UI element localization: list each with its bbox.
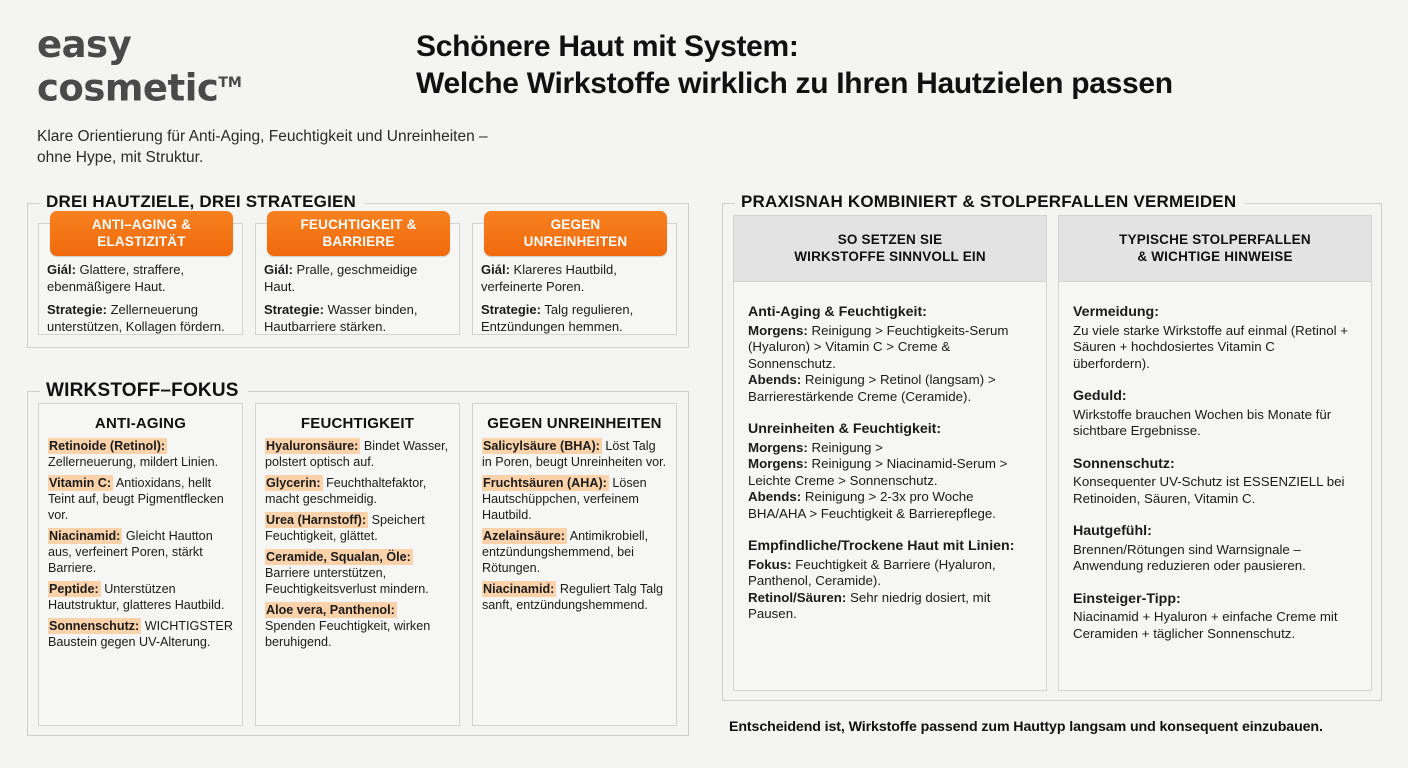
praxis-block-line: Wirkstoffe brauchen Wochen bis Monate fü…	[1073, 407, 1357, 440]
goal-line: Giál: Pralle, geschmeidige Haut.	[264, 262, 451, 295]
list-item: Salicylsäure (BHA): Löst Talg in Poren, …	[482, 438, 667, 470]
list-item: Ceramide, Squalan, Öle: Barriere unterst…	[265, 549, 450, 597]
brand-logo-line2-text: cosmetic	[37, 66, 218, 109]
list-item: Sonnenschutz: WICHTIGSTER Baustein gegen…	[48, 618, 233, 650]
ingredient-term: Sonnenschutz:	[48, 618, 141, 634]
list-item: Fruchtsäuren (AHA): Lösen Hautschüppchen…	[482, 475, 667, 523]
list-item: Azelainsäure: Antimikrobiell, entzündung…	[482, 528, 667, 576]
praxis-card-anwendung: SO SETZEN SIE WIRKSTOFFE SINNVOLL EIN An…	[733, 215, 1047, 691]
footer-note: Entscheidend ist, Wirkstoffe passend zum…	[729, 719, 1389, 735]
status-badge: FEUCHTIGKEIT & BARRIERE	[267, 211, 450, 256]
section-legend-wirkstoff-fokus: WIRKSTOFF–FOKUS	[40, 380, 248, 402]
section-legend-hautziele: DREI HAUTZIELE, DREI STRATEGIEN	[40, 192, 365, 212]
praxis-card-row: SO SETZEN SIE WIRKSTOFFE SINNVOLL EIN An…	[733, 215, 1372, 691]
goal-card: GEGEN UNREINHEITEN Giál: Klareres Hautbi…	[472, 223, 677, 335]
goal-card-body: Giál: Glattere, straffere, ebenmäßigere …	[47, 262, 234, 335]
ingredient-term: Niacinamid:	[482, 581, 556, 597]
trademark-icon: TM	[218, 75, 241, 91]
ingredient-desc: Spenden Feuchtigkeit, wirken beruhigend.	[265, 619, 430, 649]
list-item: Retinoide (Retinol): Zellerneuerung, mil…	[48, 438, 233, 470]
praxis-line-label: Abends:	[748, 489, 801, 504]
praxis-card-header: TYPISCHE STOLPERFALLEN & WICHTIGE HINWEI…	[1059, 216, 1371, 282]
goal-card-row: ANTI–AGING & ELASTIZITÄT Giál: Glattere,…	[38, 223, 677, 335]
page-title: Schönere Haut mit System: Welche Wirksto…	[416, 28, 1376, 102]
praxis-block-heading: Hautgefühl:	[1073, 523, 1357, 541]
fokus-column-title: GEGEN UNREINHEITEN	[482, 415, 667, 432]
praxis-block-heading: Geduld:	[1073, 388, 1357, 406]
ingredient-term: Salicylsäure (BHA):	[482, 438, 602, 454]
praxis-block-line: Zu viele starke Wirkstoffe auf einmal (R…	[1073, 323, 1357, 373]
list-item: Niacinamid: Gleicht Hautton aus, verfein…	[48, 528, 233, 576]
section-legend-praxisnah: PRAXISNAH KOMBINIERT & STOLPERFALLEN VER…	[735, 192, 1245, 212]
praxis-block-line: Abends: Reinigung > Retinol (langsam) > …	[748, 372, 1032, 405]
goal-card-body: Giál: Pralle, geschmeidige Haut. Strateg…	[264, 262, 451, 335]
fokus-column: FEUCHTIGKEIT Hyaluronsäure: Bindet Wasse…	[255, 403, 460, 726]
fokus-column: GEGEN UNREINHEITEN Salicylsäure (BHA): L…	[472, 403, 677, 726]
ingredient-term: Retinoide (Retinol):	[48, 438, 167, 454]
praxis-card-body: Anti-Aging & Feuchtigkeit: Morgens: Rein…	[734, 282, 1046, 633]
page-subtitle: Klare Orientierung für Anti-Aging, Feuch…	[37, 126, 497, 168]
ingredient-term: Aloe vera, Panthenol:	[265, 602, 397, 618]
strategy-line: Strategie: Wasser binden, Hautbarriere s…	[264, 302, 451, 335]
section-wirkstoff-fokus: WIRKSTOFF–FOKUS ANTI-AGING Retinoide (Re…	[27, 391, 689, 736]
ingredient-term: Vitamin C:	[48, 475, 113, 491]
goal-label: Giál:	[264, 262, 293, 277]
strategy-label: Strategie:	[47, 302, 107, 317]
goal-card: FEUCHTIGKEIT & BARRIERE Giál: Pralle, ge…	[255, 223, 460, 335]
goal-line: Giál: Klareres Hautbild, verfeinerte Por…	[481, 262, 668, 295]
list-item: Hyaluronsäure: Bindet Wasser, polstert o…	[265, 438, 450, 470]
praxis-block-heading: Anti-Aging & Feuchtigkeit:	[748, 304, 1032, 322]
praxis-card-body: Vermeidung: Zu viele starke Wirkstoffe a…	[1059, 282, 1371, 652]
praxis-line-label: Abends:	[748, 372, 801, 387]
ingredient-term: Peptide:	[48, 581, 101, 597]
fokus-column-title: ANTI-AGING	[48, 415, 233, 432]
list-item: Vitamin C: Antioxidans, hellt Teint auf,…	[48, 475, 233, 523]
goal-card-body: Giál: Klareres Hautbild, verfeinerte Por…	[481, 262, 668, 335]
praxis-block-line: Morgens: Reinigung > Feuchtigkeits-Serum…	[748, 323, 1032, 373]
ingredient-term: Hyaluronsäure:	[265, 438, 360, 454]
praxis-line-label: Morgens:	[748, 456, 808, 471]
ingredient-term: Glycerin:	[265, 475, 323, 491]
list-item: Urea (Harnstoff): Speichert Feuchtigkeit…	[265, 512, 450, 544]
praxis-block-heading: Vermeidung:	[1073, 304, 1357, 322]
praxis-line-label: Morgens:	[748, 440, 808, 455]
praxis-block: Hautgefühl: Brennen/Rötungen sind Warnsi…	[1073, 523, 1357, 575]
praxis-block-line: Konsequenter UV-Schutz ist ESSENZIELL be…	[1073, 474, 1357, 507]
praxis-block: Sonnenschutz: Konsequenter UV-Schutz ist…	[1073, 456, 1357, 508]
list-item: Niacinamid: Reguliert Talg Talg sanft, e…	[482, 581, 667, 613]
goal-label: Giál:	[481, 262, 510, 277]
brand-logo: easy cosmeticTM	[37, 26, 297, 107]
praxis-block-line: Niacinamid + Hyaluron + einfache Creme m…	[1073, 609, 1357, 642]
praxis-block: Unreinheiten & Feuchtigkeit: Morgens: Re…	[748, 421, 1032, 522]
praxis-block: Anti-Aging & Feuchtigkeit: Morgens: Rein…	[748, 304, 1032, 405]
strategy-line: Strategie: Zellerneuerung unterstützen, …	[47, 302, 234, 335]
praxis-line-label: Retinol/Säuren:	[748, 590, 846, 605]
fokus-column: ANTI-AGING Retinoide (Retinol): Zellerne…	[38, 403, 243, 726]
praxis-block-line: Retinol/Säuren: Sehr niedrig dosiert, mi…	[748, 590, 1032, 623]
fokus-column-title: FEUCHTIGKEIT	[265, 415, 450, 432]
strategy-line: Strategie: Talg regulieren, Entzündungen…	[481, 302, 668, 335]
goal-line: Giál: Glattere, straffere, ebenmäßigere …	[47, 262, 234, 295]
list-item: Peptide: Unterstützen Hautstruktur, glat…	[48, 581, 233, 613]
status-badge: GEGEN UNREINHEITEN	[484, 211, 667, 256]
praxis-block-line: Morgens: Reinigung >	[748, 440, 1032, 457]
goal-label: Giál:	[47, 262, 76, 277]
praxis-line-text: Reinigung >	[812, 440, 883, 455]
praxis-block-line: Fokus: Feuchtigkeit & Barriere (Hyaluron…	[748, 557, 1032, 590]
praxis-block: Empfindliche/Trockene Haut mit Linien: F…	[748, 538, 1032, 623]
ingredient-desc: Zellerneuerung, mildert Linien.	[48, 455, 218, 469]
ingredient-term: Urea (Harnstoff):	[265, 512, 368, 528]
praxis-block-heading: Sonnenschutz:	[1073, 456, 1357, 474]
goal-card: ANTI–AGING & ELASTIZITÄT Giál: Glattere,…	[38, 223, 243, 335]
list-item: Glycerin: Feuchthaltefaktor, macht gesch…	[265, 475, 450, 507]
praxis-block-line: Brennen/Rötungen sind Warnsignale – Anwe…	[1073, 542, 1357, 575]
praxis-block-heading: Empfindliche/Trockene Haut mit Linien:	[748, 538, 1032, 556]
praxis-block-line: Morgens: Reinigung > Niacinamid-Serum > …	[748, 456, 1032, 489]
ingredient-term: Niacinamid:	[48, 528, 122, 544]
praxis-block: Geduld: Wirkstoffe brauchen Wochen bis M…	[1073, 388, 1357, 440]
ingredient-term: Azelainsäure:	[482, 528, 567, 544]
ingredient-term: Ceramide, Squalan, Öle:	[265, 549, 413, 565]
strategy-label: Strategie:	[481, 302, 541, 317]
section-drei-hautziele: DREI HAUTZIELE, DREI STRATEGIEN ANTI–AGI…	[27, 203, 689, 348]
praxis-card-header: SO SETZEN SIE WIRKSTOFFE SINNVOLL EIN	[734, 216, 1046, 282]
praxis-card-stolperfallen: TYPISCHE STOLPERFALLEN & WICHTIGE HINWEI…	[1058, 215, 1372, 691]
ingredient-desc: Barriere unterstützen, Feuchtigkeitsverl…	[265, 566, 429, 596]
brand-logo-line1: easy	[37, 26, 297, 64]
praxis-block-heading: Unreinheiten & Feuchtigkeit:	[748, 421, 1032, 439]
praxis-block-line: Abends: Reinigung > 2-3x pro Woche BHA/A…	[748, 489, 1032, 522]
infographic-page: easy cosmeticTM Schönere Haut mit System…	[0, 0, 1408, 768]
praxis-block: Einsteiger-Tipp: Niacinamid + Hyaluron +…	[1073, 591, 1357, 643]
page-header: easy cosmeticTM Schönere Haut mit System…	[0, 0, 1408, 180]
strategy-label: Strategie:	[264, 302, 324, 317]
status-badge: ANTI–AGING & ELASTIZITÄT	[50, 211, 233, 256]
praxis-block: Vermeidung: Zu viele starke Wirkstoffe a…	[1073, 304, 1357, 372]
section-praxisnah: PRAXISNAH KOMBINIERT & STOLPERFALLEN VER…	[722, 203, 1382, 701]
praxis-line-label: Fokus:	[748, 557, 792, 572]
praxis-block-heading: Einsteiger-Tipp:	[1073, 591, 1357, 609]
fokus-column-row: ANTI-AGING Retinoide (Retinol): Zellerne…	[38, 403, 677, 726]
praxis-line-label: Morgens:	[748, 323, 808, 338]
list-item: Aloe vera, Panthenol: Spenden Feuchtigke…	[265, 602, 450, 650]
brand-logo-line2: cosmeticTM	[37, 64, 242, 107]
ingredient-term: Fruchtsäuren (AHA):	[482, 475, 609, 491]
